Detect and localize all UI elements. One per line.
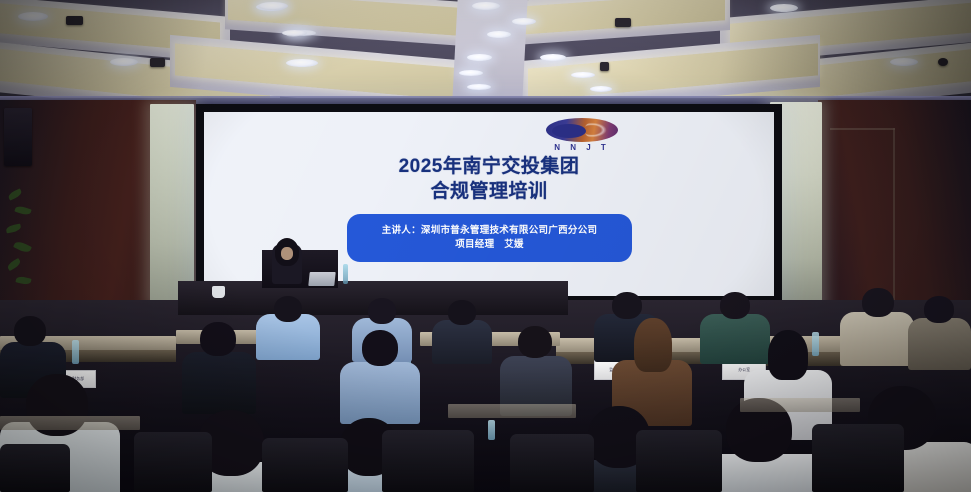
logo-letters: N N J T (540, 143, 624, 152)
presenter-name: 项目经理 艾媛 (455, 238, 524, 252)
audience-chair (262, 438, 348, 492)
nnjt-logo: N N J T (540, 118, 624, 158)
paper-cup (212, 286, 225, 298)
presenter-laptop (308, 272, 335, 286)
audience-chair (382, 430, 474, 492)
ceiling (0, 0, 971, 104)
door-header (830, 128, 895, 130)
audience-chair (0, 444, 70, 492)
slide-title: 2025年南宁交投集团 合规管理培训 (204, 154, 774, 204)
door-frame (893, 128, 895, 308)
water-bottle (488, 420, 495, 440)
audience-desk (448, 404, 576, 418)
left-lit-wall-panel (150, 104, 194, 304)
ceiling-shading (0, 0, 971, 104)
logo-oval-icon (546, 118, 618, 142)
potted-plant (6, 185, 36, 305)
audience-desk (740, 398, 860, 412)
slide-title-line1: 2025年南宁交投集团 (204, 154, 774, 179)
water-bottle (343, 264, 348, 284)
audience-chair (134, 432, 212, 492)
audience-chair (510, 434, 594, 492)
audience-desk (0, 416, 140, 430)
audience-chair (812, 424, 904, 492)
placard-text: 办公室 (738, 367, 750, 373)
slide-title-line2: 合规管理培训 (204, 179, 774, 204)
presenter-face (281, 247, 293, 260)
presenter-company: 主讲人：深圳市普永管理技术有限公司广西分公司 (382, 224, 598, 238)
water-bottle (72, 340, 79, 364)
audience-chair (636, 430, 722, 492)
water-bottle (812, 332, 819, 356)
slide-presenter-pill: 主讲人：深圳市普永管理技术有限公司广西分公司 项目经理 艾媛 (347, 214, 632, 262)
wall-speaker-icon (4, 108, 32, 166)
conference-room-scene: N N J T 2025年南宁交投集团 合规管理培训 主讲人：深圳市普永管理技术… (0, 0, 971, 492)
